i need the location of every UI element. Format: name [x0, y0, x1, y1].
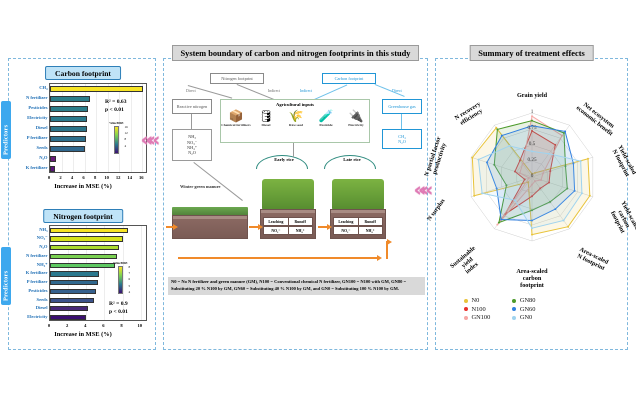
category-label: NO₃⁻ [37, 235, 48, 241]
runoff-label: Runoff [288, 218, 312, 225]
input-electricity: 🔌 Electricity [341, 110, 371, 127]
bar [50, 126, 87, 131]
input-label: Pesticide [311, 123, 341, 127]
category-label: N fertilizer [26, 253, 48, 258]
category-label: Pesticides [28, 105, 47, 110]
legend-item-GN80[interactable]: GN80 [512, 297, 535, 304]
bar [50, 263, 115, 268]
bar [50, 96, 90, 101]
bar [50, 136, 86, 141]
input-label: Rice seed [281, 123, 311, 127]
x-tick-label: 6 [79, 175, 89, 180]
category-label: K fertilizer [26, 165, 48, 170]
nitrogen-x-axis-title: Increase in MSE (%) [9, 331, 157, 338]
system-boundary-title: System boundary of carbon and nitrogen f… [172, 45, 420, 61]
legend-color-dot [464, 307, 468, 311]
legend-item-N100[interactable]: N100 [464, 306, 490, 313]
carbon-plot-area [49, 83, 147, 173]
carbon-chart-title: Carbon footprint [45, 66, 121, 80]
grid-line [131, 84, 132, 172]
legend-label: GN100 [472, 314, 491, 321]
category-label: CH₄ [39, 85, 47, 90]
bar [50, 289, 96, 294]
legend-item-GN60[interactable]: GN60 [512, 306, 535, 313]
radar-data-point [567, 226, 569, 228]
graphical-abstract: Predictors Predictors Carbon footprint I… [0, 0, 636, 407]
soil-surface [331, 210, 385, 213]
radar-data-point [548, 153, 550, 155]
early-rice-canopy [262, 179, 314, 211]
leaching-species: NO₃⁻ [264, 227, 288, 234]
panel-treatment-effects: Summary of treatment effects N0GN80N100G… [435, 58, 628, 350]
category-label: P fertilizer [27, 279, 48, 284]
bar [50, 86, 143, 91]
radar-data-point [498, 222, 500, 224]
axis-label-predictors-nitrogen: Predictors [1, 247, 11, 305]
input-chemical-fertilizers: 📦 Chemical fertilizers [221, 110, 251, 127]
legend-color-dot [512, 299, 516, 303]
panel-system-boundary: System boundary of carbon and nitrogen f… [163, 58, 428, 350]
bar [50, 106, 88, 111]
radar-legend: N0GN80N100GN60GN100GN0 [464, 297, 535, 321]
treatment-footnote: N0 = No N fertilizer and green manure (G… [168, 277, 425, 295]
grid-line [142, 84, 143, 172]
nitrogen-footprint-box: Nitrogen footprint [210, 73, 264, 84]
category-label: Pesticides [28, 288, 47, 293]
radar-tick-label: 0.5 [523, 141, 541, 147]
radar-data-point [496, 224, 498, 226]
bar [50, 228, 128, 233]
radar-data-point [564, 130, 566, 132]
colorbar-gradient [114, 126, 119, 154]
chevron-connector-left-icon: «« [139, 130, 157, 150]
x-tick-label: 8 [117, 323, 127, 328]
bar [50, 254, 117, 259]
r-squared-text: R² = 0.9 [109, 301, 128, 307]
radar-data-point [580, 160, 582, 162]
radar-data-point [531, 150, 533, 152]
bar [50, 306, 88, 311]
category-label: NH₃ [39, 227, 47, 232]
rice-seed-icon: 🌾 [281, 110, 311, 123]
connector-line [293, 143, 294, 157]
input-label: Electricity [341, 123, 371, 127]
category-label: Seeds [37, 297, 48, 302]
label-indirect-right: Indirect [300, 89, 312, 93]
leaching-label: Leaching [264, 218, 288, 225]
input-pesticide: 🧪 Pesticide [311, 110, 341, 127]
reactive-nitrogen-species-box: NH₃ NO₃⁻ NH₄⁺ N₂O [172, 129, 212, 161]
radar-data-point [473, 195, 475, 197]
early-rice-loss-path-row: Leaching Runoff [263, 217, 313, 226]
colorbar: %IncMSE87654 [113, 261, 128, 294]
input-diesel: 🛢 Diesel [251, 110, 281, 127]
early-rice-loss-species-row: NO₃⁻ NH₄⁺ [263, 226, 313, 235]
bar [50, 156, 56, 161]
connector-line [401, 114, 402, 130]
radar-data-point [531, 227, 533, 229]
runoff-species: NH₄⁺ [288, 227, 312, 234]
legend-label: N0 [472, 297, 480, 304]
legend-label: GN80 [520, 297, 536, 304]
leaching-species: NO₃⁻ [334, 227, 358, 234]
p-value-text: p < 0.01 [105, 107, 124, 113]
bar [50, 271, 99, 276]
legend-item-GN0[interactable]: GN0 [512, 314, 535, 321]
radar-data-point [587, 158, 589, 160]
category-label: NH₄⁺ [37, 262, 48, 268]
radar-data-point [563, 219, 565, 221]
input-rice-seed: 🌾 Rice seed [281, 110, 311, 127]
radar-data-point [501, 135, 503, 137]
late-rice-label: Late rice [332, 157, 372, 162]
x-tick-label: 2 [56, 175, 66, 180]
input-label: Diesel [251, 123, 281, 127]
legend-color-dot [512, 316, 516, 320]
bar [50, 236, 123, 241]
colorbar-gradient [118, 266, 123, 294]
bar [50, 280, 98, 285]
connector-line [191, 114, 192, 130]
legend-label: GN60 [520, 306, 536, 313]
x-tick-label: 0 [44, 175, 54, 180]
radar-data-point [531, 120, 533, 122]
radar-data-point [496, 128, 498, 130]
radar-data-point [508, 145, 510, 147]
electricity-meter-icon: 🔌 [341, 110, 371, 123]
green-manure-label: Winter green manure [180, 184, 220, 189]
x-tick-label: 8 [90, 175, 100, 180]
grid-line [96, 84, 97, 172]
legend-color-dot [464, 299, 468, 303]
radar-axis-label: Area-scaled carbon footprint [506, 269, 558, 290]
x-tick-label: 12 [113, 175, 123, 180]
runoff-species: NH₄⁺ [358, 227, 382, 234]
pesticide-sprayer-icon: 🧪 [311, 110, 341, 123]
radar-data-point [477, 159, 479, 161]
x-tick-label: 4 [67, 175, 77, 180]
category-label: P fertilizer [27, 135, 48, 140]
radar-data-point [481, 192, 483, 194]
early-rice-label: Early rice [264, 157, 304, 162]
bar [50, 116, 87, 121]
flow-arrow [318, 226, 328, 228]
recycle-flow-arrow [178, 257, 378, 259]
fertilizer-bag-icon: 📦 [221, 110, 251, 123]
axis-label-predictors-carbon: Predictors [1, 101, 11, 159]
x-tick-label: 10 [102, 175, 112, 180]
x-tick-label: 4 [80, 323, 90, 328]
x-tick-label: 6 [98, 323, 108, 328]
grid-line [141, 226, 142, 320]
connector-line [194, 162, 243, 201]
panel-random-forest: Predictors Predictors Carbon footprint I… [8, 58, 156, 350]
colorbar-tick-label: 4 [128, 289, 131, 295]
label-indirect-left: Indirect [268, 89, 280, 93]
radar-data-point [589, 195, 591, 197]
legend-label: N100 [472, 306, 486, 313]
nitrogen-plot-area [49, 225, 147, 321]
bar [50, 298, 94, 303]
radar-data-point [500, 218, 502, 220]
late-rice-canopy [332, 179, 384, 211]
colorbar-tick-label: 4 [124, 143, 128, 149]
radar-data-point [531, 115, 533, 117]
p-value-text: p < 0.01 [109, 309, 128, 315]
agricultural-inputs-box: Agricultural inputs 📦 Chemical fertilize… [220, 99, 370, 143]
bar [50, 245, 119, 250]
category-label: Seeds [37, 145, 48, 150]
reactive-nitrogen-box: Reactive nitrogen [172, 99, 212, 114]
bar [50, 146, 85, 151]
x-tick-label: 14 [125, 175, 135, 180]
colorbar-ticks: 161284 [124, 124, 128, 149]
category-label: Electricity [27, 115, 47, 120]
agricultural-inputs-title: Agricultural inputs [221, 102, 369, 107]
colorbar-title: %IncMSE [109, 121, 124, 125]
radar-data-point [531, 234, 533, 236]
category-label: N fertilizer [26, 95, 48, 100]
colorbar: %IncMSE161284 [109, 121, 124, 154]
treatment-effects-title: Summary of treatment effects [469, 45, 594, 61]
category-label: K fertilizer [26, 270, 48, 275]
leaching-label: Leaching [334, 218, 358, 225]
carbon-footprint-box: Carbon footprint [322, 73, 376, 84]
category-label: Diesel [36, 305, 48, 310]
carbon-x-axis-title: Increase in MSE (%) [9, 183, 157, 190]
radar-axis-label: Grain yield [506, 93, 558, 100]
category-label: N₂O [39, 244, 47, 249]
radar-tick-label: 0.25 [523, 157, 541, 163]
soil-surface [261, 210, 315, 213]
legend-label: GN0 [520, 314, 532, 321]
diesel-can-icon: 🛢 [251, 110, 281, 123]
radar-tick-label: 0 [523, 173, 541, 179]
legend-item-GN100[interactable]: GN100 [464, 314, 490, 321]
greenhouse-gas-box: Greenhouse gas [382, 99, 422, 114]
bar [50, 315, 86, 320]
radar-data-point [471, 157, 473, 159]
legend-item-N0[interactable]: N0 [464, 297, 490, 304]
legend-color-dot [512, 307, 516, 311]
flow-arrow [249, 226, 259, 228]
x-tick-label: 2 [62, 323, 72, 328]
late-rice-loss-path-row: Leaching Runoff [333, 217, 383, 226]
input-label: Chemical fertilizers [221, 123, 251, 127]
colorbar-ticks: 87654 [128, 264, 131, 295]
category-label: Diesel [36, 125, 48, 130]
x-tick-label: 16 [136, 175, 146, 180]
r-squared-text: R² = 0.63 [105, 99, 127, 105]
x-tick-label: 10 [135, 323, 145, 328]
late-rice-loss-species-row: NO₃⁻ NH₄⁺ [333, 226, 383, 235]
colorbar-title: %IncMSE [113, 261, 128, 265]
nitrogen-chart-title: Nitrogen footprint [43, 209, 123, 223]
chevron-connector-right-icon: «« [412, 180, 430, 200]
legend-color-dot [464, 316, 468, 320]
flow-arrow-vertical [386, 241, 388, 259]
soil-surface [173, 216, 247, 219]
category-label: N₂O [39, 155, 47, 160]
bar [50, 166, 55, 171]
greenhouse-gas-species-box: CH₄ N₂O [382, 129, 422, 149]
x-tick-label: 0 [44, 323, 54, 328]
category-label: Electricity [27, 314, 47, 319]
radar-tick-label: 1 [523, 109, 541, 115]
radar-tick-label: 0.75 [523, 125, 541, 131]
runoff-label: Runoff [358, 218, 382, 225]
flow-arrow [166, 226, 174, 228]
radar-data-point [581, 192, 583, 194]
radar-data-point [514, 199, 516, 201]
label-direct-left: Direct [186, 89, 196, 93]
green-manure-soil [172, 215, 248, 239]
